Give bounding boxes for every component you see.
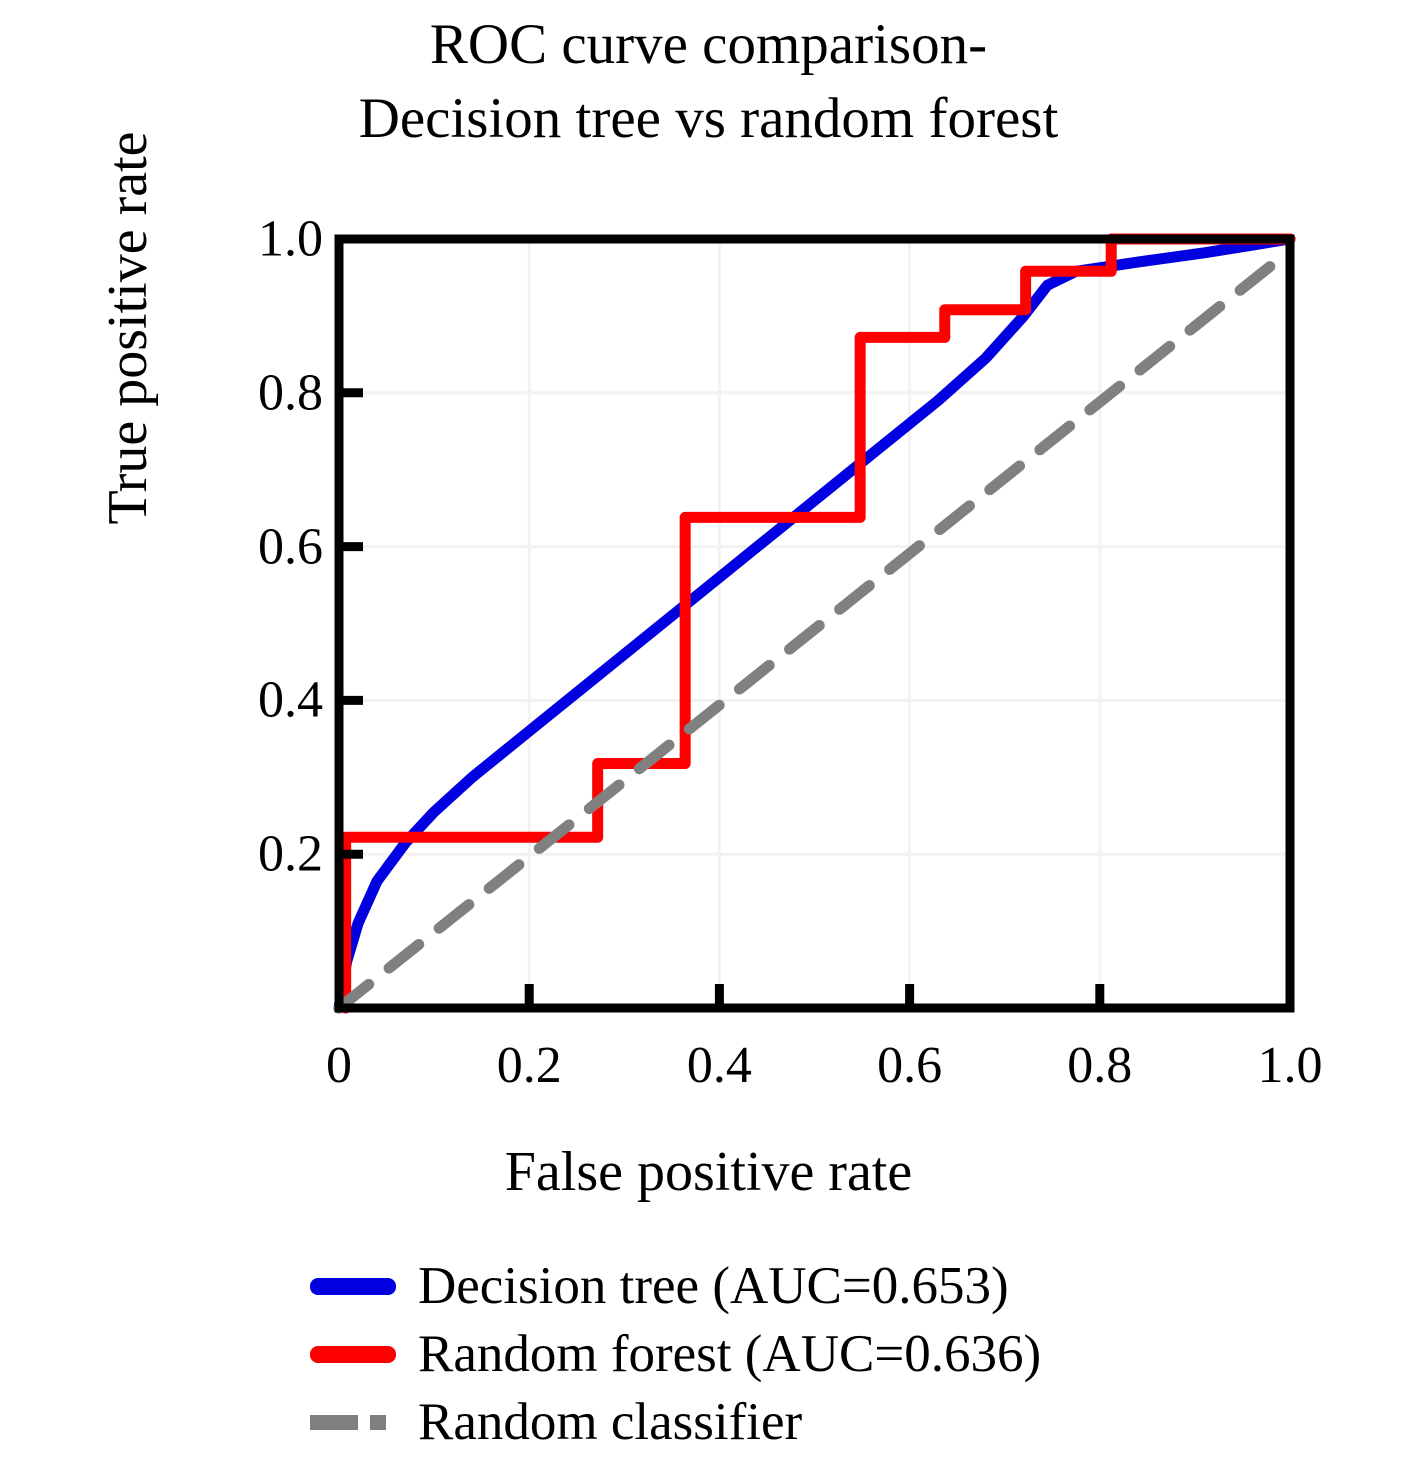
series-group bbox=[339, 239, 1290, 1008]
roc-curve-figure: ROC curve comparison-Decision tree vs ra… bbox=[0, 0, 1417, 1483]
series-line-random-classifier bbox=[339, 251, 1290, 1008]
legend-line-segment bbox=[310, 1346, 396, 1363]
legend-line-segment bbox=[310, 1278, 396, 1295]
chart-legend: Decision tree (AUC=0.653)Random forest (… bbox=[310, 1252, 1310, 1456]
legend-item[interactable]: Random classifier bbox=[310, 1388, 1310, 1456]
legend-item-label: Random forest (AUC=0.636) bbox=[418, 1328, 1041, 1381]
legend-item[interactable]: Decision tree (AUC=0.653) bbox=[310, 1252, 1310, 1320]
legend-item-label: Decision tree (AUC=0.653) bbox=[418, 1260, 1009, 1313]
legend-dash-segment bbox=[310, 1415, 358, 1430]
legend-item[interactable]: Random forest (AUC=0.636) bbox=[310, 1320, 1310, 1388]
legend-item-label: Random classifier bbox=[418, 1396, 802, 1449]
legend-dash-segment bbox=[370, 1415, 386, 1430]
